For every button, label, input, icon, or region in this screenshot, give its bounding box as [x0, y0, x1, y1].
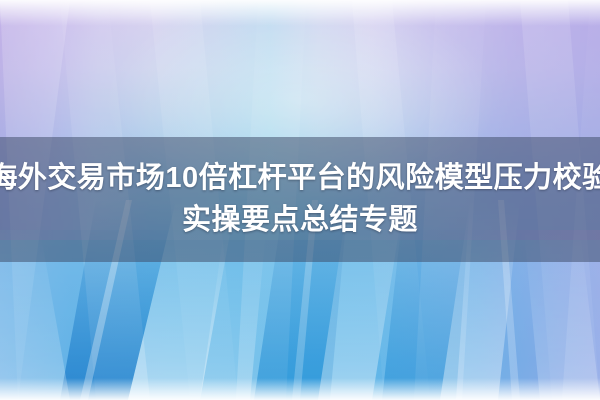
headline-band: 海外交易市场10倍杠杆平台的风险模型压力校验 实操要点总结专题	[0, 137, 600, 262]
headline-line-1: 海外交易市场10倍杠杆平台的风险模型压力校验	[0, 158, 600, 199]
headline-line-2: 实操要点总结专题	[182, 200, 418, 241]
promo-banner: 海外交易市场10倍杠杆平台的风险模型压力校验 实操要点总结专题	[0, 0, 600, 400]
bottom-edge-fade	[0, 378, 600, 400]
top-edge-fade	[0, 0, 600, 26]
